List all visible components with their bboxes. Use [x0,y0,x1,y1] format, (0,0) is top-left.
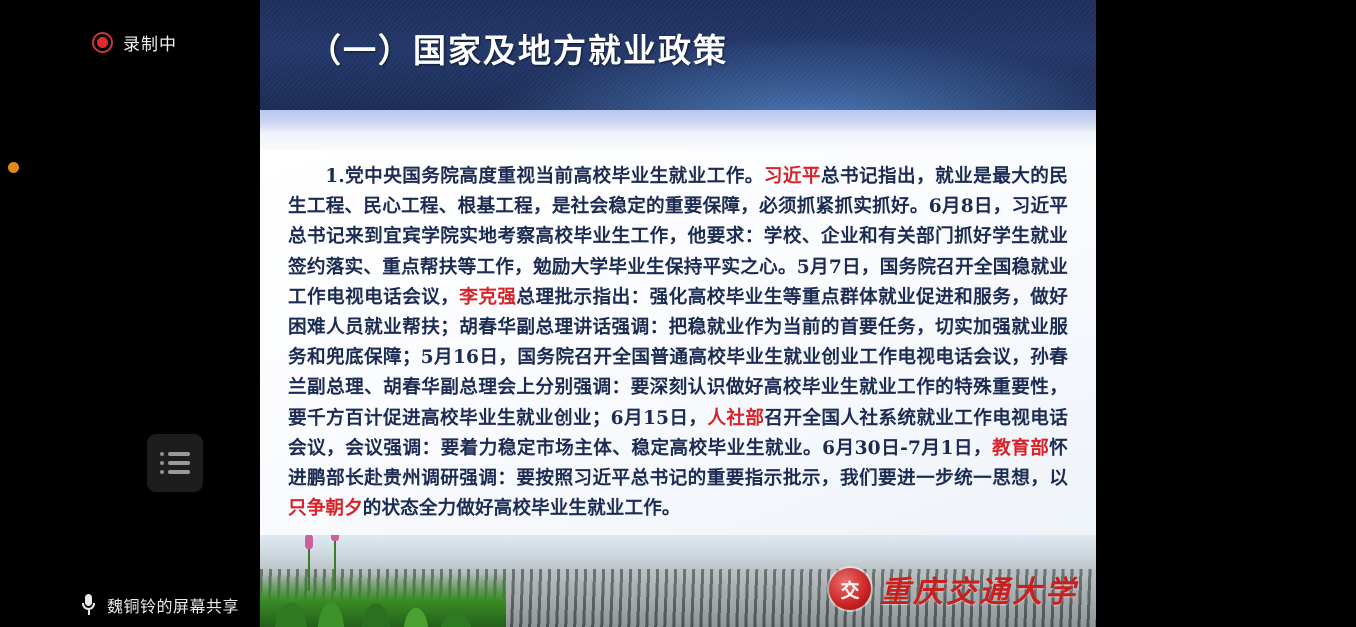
slide-footer-art: 交 重庆交通大学 [260,535,1096,627]
left-rail: 录制中 魏铜铃的屏幕共享 [0,0,260,627]
university-name: 重庆交通大学 [880,567,1078,611]
recording-indicator: 录制中 [92,30,177,55]
microphone-icon [82,594,95,616]
slide-body: 1.党中央国务院高度重视当前高校毕业生就业工作。习近平总书记指出，就业是最大的民… [260,150,1096,550]
screen-share-status: 魏铜铃的屏幕共享 [82,593,239,617]
university-logo: 交 重庆交通大学 [829,567,1078,611]
highlighted-term: 习近平 [764,166,821,187]
list-icon [160,452,190,474]
highlighted-term: 李克强 [459,287,516,308]
screen-share-label: 魏铜铃的屏幕共享 [107,593,239,617]
record-dot-icon [92,32,113,53]
participants-list-button[interactable] [147,434,203,492]
highlighted-term: 人社部 [707,408,764,429]
status-dot-indicator [8,162,19,173]
recording-label: 录制中 [123,30,177,55]
shared-slide[interactable]: （一）国家及地方就业政策 1.党中央国务院高度重视当前高校毕业生就业工作。习近平… [260,0,1096,627]
grass-decoration [260,539,506,627]
highlighted-term: 教育部 [992,438,1049,459]
slide-paragraph: 1.党中央国务院高度重视当前高校毕业生就业工作。习近平总书记指出，就业是最大的民… [288,162,1068,524]
slide-accent-band [260,110,1096,132]
university-seal-icon: 交 [829,568,871,610]
highlighted-term: 只争朝夕 [288,498,363,519]
right-rail: 魏铜铃 [1096,0,1356,627]
screen-share-window: 录制中 魏铜铃的屏幕共享 （一）国家及地方就业政策 1.党中央国务院高度重视当前… [0,0,1356,627]
slide-title: （一）国家及地方就业政策 [308,24,728,72]
